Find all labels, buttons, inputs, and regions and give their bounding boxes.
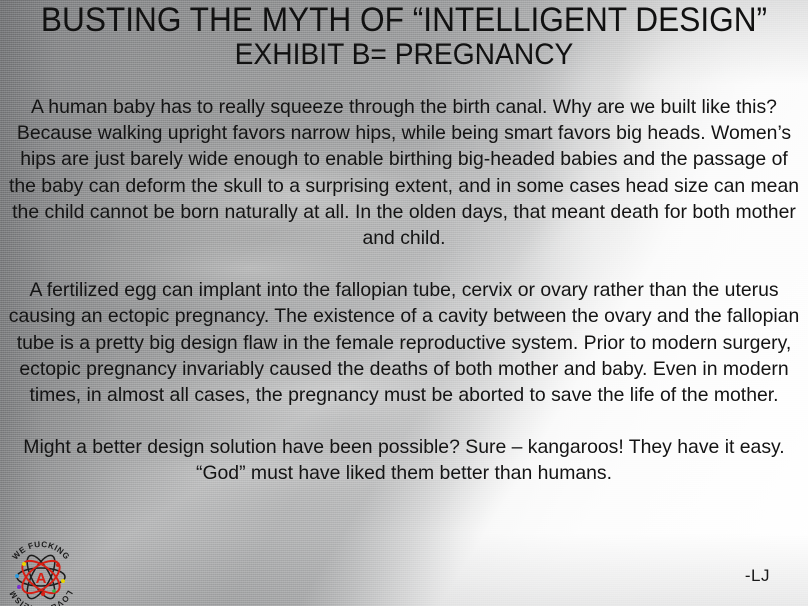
- body-paragraph-1: A human baby has to really squeeze throu…: [0, 94, 808, 251]
- logo-ring-text-top: WE FUCKING: [11, 540, 72, 562]
- logo-nucleus-letter: A: [36, 570, 47, 587]
- logo-ring-text-bottom: LOVE ATHEISM: [8, 589, 75, 606]
- poster-title-line-1: BUSTING THE MYTH OF “INTELLIGENT DESIGN”: [28, 0, 779, 38]
- title-block: BUSTING THE MYTH OF “INTELLIGENT DESIGN”…: [0, 0, 808, 71]
- poster-title-line-2: EXHIBIT B= PREGNANCY: [24, 38, 784, 71]
- body-paragraph-2: A fertilized egg can implant into the fa…: [0, 277, 808, 408]
- poster: BUSTING THE MYTH OF “INTELLIGENT DESIGN”…: [0, 0, 808, 606]
- paragraph-spacer: [0, 251, 808, 277]
- author-signature: -LJ: [745, 566, 770, 586]
- paragraph-spacer: [0, 408, 808, 434]
- body-text-block: A human baby has to really squeeze throu…: [0, 94, 808, 487]
- body-paragraph-3: Might a better design solution have been…: [0, 434, 808, 486]
- we-fucking-love-atheism-logo: WE FUCKING LOVE ATHEISM: [2, 536, 80, 606]
